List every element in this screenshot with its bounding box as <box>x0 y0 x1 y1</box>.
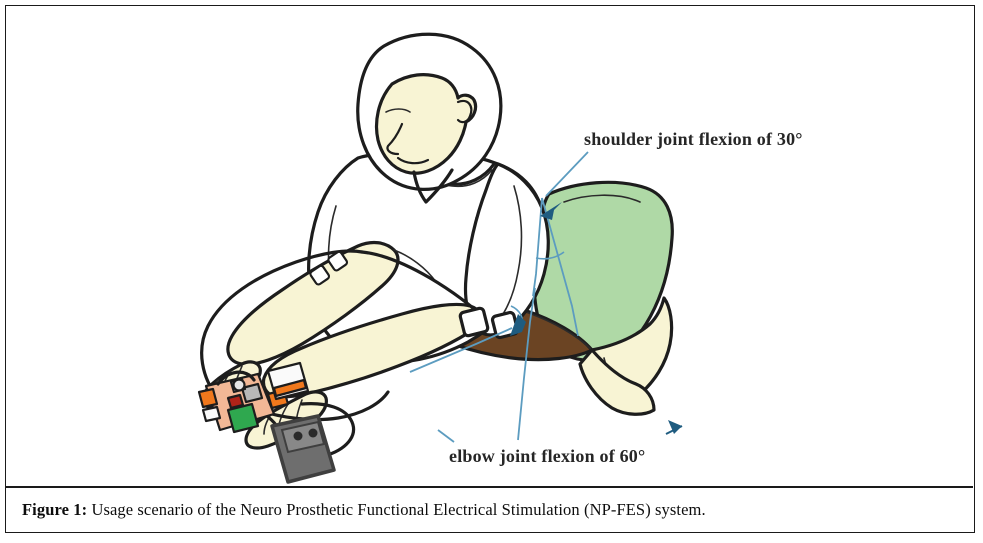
stimulator-port-2 <box>309 429 318 438</box>
figure-frame: .ol { stroke:#1d1d1d; stroke-width:3.2; … <box>5 5 975 533</box>
figure-caption: Figure 1: Usage scenario of the Neuro Pr… <box>6 488 973 531</box>
figure-page: .ol { stroke:#1d1d1d; stroke-width:3.2; … <box>0 0 983 543</box>
annotation-shoulder-flexion: shoulder joint flexion of 30° <box>584 129 803 150</box>
board-red-led <box>228 395 243 408</box>
board-white-component <box>203 407 220 421</box>
board-orange-connector <box>199 389 217 407</box>
caption-text-line: Figure 1: Usage scenario of the Neuro Pr… <box>6 500 706 520</box>
caption-body: Usage scenario of the Neuro Prosthetic F… <box>87 500 705 519</box>
annotation-elbow-flexion: elbow joint flexion of 60° <box>449 446 645 467</box>
stimulator-port-1 <box>294 432 303 441</box>
board-round-component <box>234 380 245 391</box>
caption-label: Figure 1: <box>22 500 87 519</box>
np-fes-usage-illustration: .ol { stroke:#1d1d1d; stroke-width:3.2; … <box>6 6 973 486</box>
illustration-area: .ol { stroke:#1d1d1d; stroke-width:3.2; … <box>6 6 973 486</box>
electrode-pad-icon <box>459 307 488 336</box>
